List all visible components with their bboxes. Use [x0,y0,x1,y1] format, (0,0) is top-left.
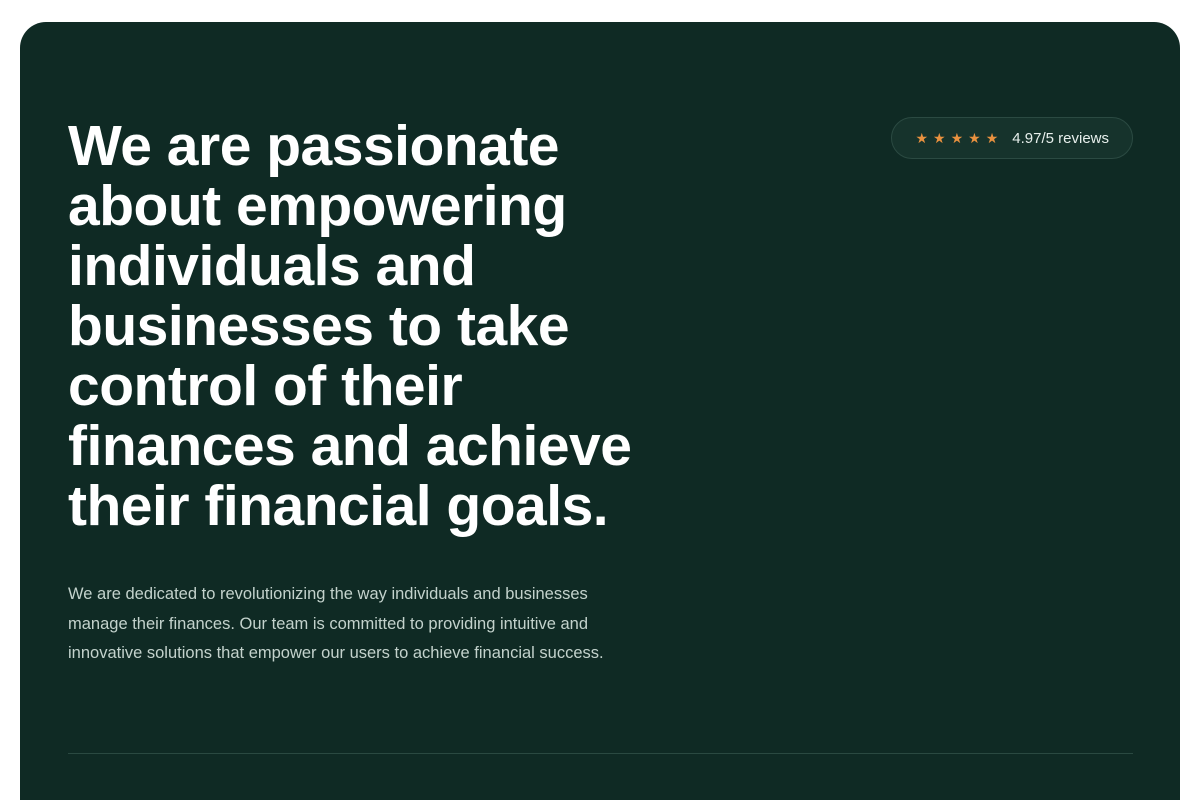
star-rating: ★ ★ ★ ★ ★ [915,131,998,145]
star-icon: ★ [951,131,964,145]
star-icon: ★ [933,131,946,145]
page-title: We are passionate about empowering indiv… [68,116,768,536]
star-icon: ★ [986,131,999,145]
hero-description: We are dedicated to revolutionizing the … [68,580,748,669]
hero-row: We are passionate about empowering indiv… [68,22,1133,536]
star-icon: ★ [915,131,928,145]
reviews-rating-label: 4.97/5 reviews [1012,131,1109,146]
reviews-badge[interactable]: ★ ★ ★ ★ ★ 4.97/5 reviews [891,117,1133,159]
content-container: We are passionate about empowering indiv… [68,22,1133,800]
section-divider [68,753,1133,754]
hero-panel: We are passionate about empowering indiv… [20,22,1180,800]
star-icon: ★ [968,131,981,145]
